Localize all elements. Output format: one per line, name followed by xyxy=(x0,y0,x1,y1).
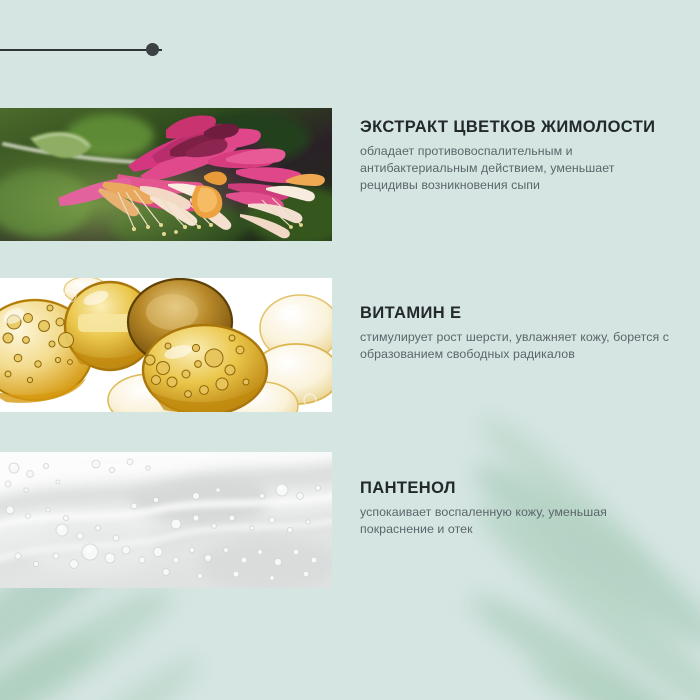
slider-knob[interactable] xyxy=(146,43,159,56)
ingredients-infographic-page: ЭКСТРАКТ ЦВЕТКОВ ЖИМОЛОСТИ обладает прот… xyxy=(0,0,700,700)
progress-slider[interactable] xyxy=(0,42,162,58)
slider-track[interactable] xyxy=(0,49,162,51)
leaf-frond-icon xyxy=(524,647,700,700)
leaf-frond-icon xyxy=(0,569,183,700)
golden-oil-bubbles-photo xyxy=(0,278,332,412)
leaf-frond-icon xyxy=(461,577,700,700)
leaf-frond-icon xyxy=(0,621,105,700)
ingredient-description: обладает противовоспалительным и антибак… xyxy=(360,143,675,194)
ingredient-copy-panthenol: ПАНТЕНОЛ успокаивает воспаленную кожу, у… xyxy=(360,478,675,538)
ingredient-title: ВИТАМИН Е xyxy=(360,303,675,323)
ingredient-description: стимулирует рост шерсти, увлажняет кожу,… xyxy=(360,329,675,363)
leaf-frond-icon xyxy=(461,443,700,663)
leaf-frond-icon xyxy=(32,644,208,700)
ingredient-copy-honeysuckle: ЭКСТРАКТ ЦВЕТКОВ ЖИМОЛОСТИ обладает прот… xyxy=(360,117,675,194)
ingredient-description: успокаивает воспаленную кожу, уменьшая п… xyxy=(360,504,675,538)
ingredient-copy-vitamin-e: ВИТАМИН Е стимулирует рост шерсти, увлаж… xyxy=(360,303,675,363)
honeysuckle-flowers-photo xyxy=(0,108,332,241)
white-foam-texture-photo xyxy=(0,452,332,588)
ingredient-title: ЭКСТРАКТ ЦВЕТКОВ ЖИМОЛОСТИ xyxy=(360,117,675,137)
ingredient-title: ПАНТЕНОЛ xyxy=(360,478,675,498)
